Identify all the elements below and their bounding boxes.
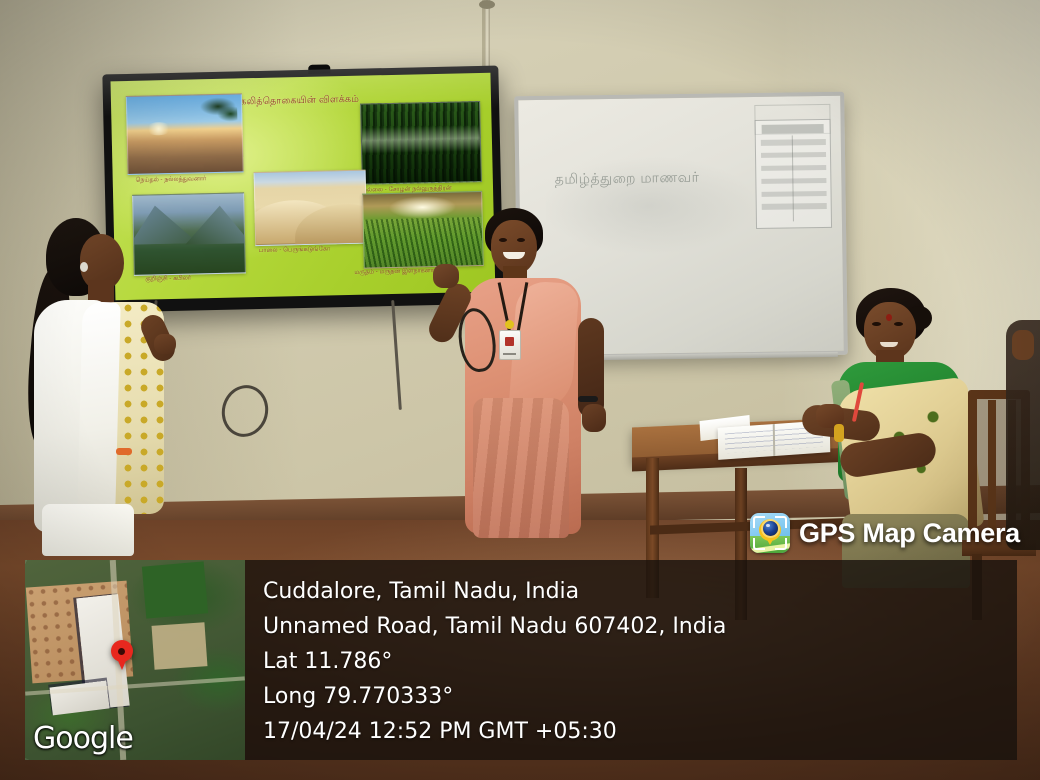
right-arm [578, 318, 604, 418]
lower-garment [42, 504, 134, 556]
chart-row [761, 165, 826, 171]
wrist-watch [578, 396, 598, 402]
chart-row [761, 152, 826, 158]
partial-hand-right-edge [1012, 330, 1034, 360]
slide-image-seashore [126, 94, 244, 175]
focus-bracket-bottom-left [753, 538, 765, 550]
chart-row [761, 139, 826, 145]
focus-bracket-top-right [775, 516, 787, 528]
chart-row [761, 203, 826, 209]
gps-longitude: Long 79.770333° [263, 679, 1017, 714]
chart-title-line [762, 124, 824, 133]
gps-place: Cuddalore, Tamil Nadu, India [263, 574, 1017, 609]
slide-image-desert [253, 170, 367, 247]
eye-left [872, 322, 881, 326]
gps-map-camera-label: GPS Map Camera [799, 518, 1020, 549]
gps-map-camera-watermark: GPS Map Camera [750, 513, 1020, 553]
mouth [880, 342, 898, 347]
person-student-left [28, 218, 173, 538]
smile [503, 252, 525, 259]
field-sun-glare [389, 196, 455, 219]
google-logo: Google [33, 721, 133, 756]
eye-left [499, 238, 507, 242]
person-presenter-center [455, 208, 600, 538]
whiteboard-handwriting: தமிழ்த்துறை மாணவர் [555, 169, 700, 190]
map-field-green [142, 561, 208, 618]
id-badge [499, 330, 521, 360]
conduit-clip [479, 0, 495, 9]
whiteboard-chart [755, 119, 833, 229]
slide-caption-farmland: மருதம் - மருதன் இளநாகனார் [354, 267, 437, 277]
slide-caption-desert: பாலை - பெருங்கடுங்கோ [259, 245, 331, 255]
tv-camera-nub [308, 64, 330, 73]
map-thumbnail[interactable]: Google [25, 560, 245, 760]
gps-latitude: Lat 11.786° [263, 644, 1017, 679]
dupatta-front [77, 302, 120, 513]
forest-mist [362, 125, 480, 154]
location-pin-icon [111, 640, 133, 662]
map-field-bare [151, 622, 207, 670]
slide-image-forest [360, 101, 482, 185]
raised-hand [433, 264, 459, 288]
eye-right [894, 322, 903, 326]
earring [80, 262, 88, 272]
sun-glow [146, 122, 171, 135]
notebook-spine [773, 424, 776, 456]
saree-drape [473, 398, 569, 538]
gps-map-camera-icon [750, 513, 790, 553]
gps-timestamp: 17/04/24 12:52 PM GMT +05:30 [263, 714, 1017, 749]
palm-canopy [189, 95, 238, 144]
focus-bracket-top-left [753, 516, 765, 528]
lanyard-clip [505, 320, 514, 329]
gold-bangle [834, 424, 844, 442]
mountain-peak-right [184, 204, 246, 245]
chart-row [761, 191, 826, 197]
eye-right [517, 238, 525, 242]
gps-map-camera-photo: கலித்தொகையின் விளக்கம் நெய்தல் - நல்லந்த… [0, 0, 1040, 780]
focus-bracket-bottom-right [775, 538, 787, 550]
wrist-band [116, 448, 132, 455]
hand-holding-remote [154, 334, 176, 354]
gps-info-bar: Google Cuddalore, Tamil Nadu, India Unna… [25, 560, 1017, 760]
chart-row [761, 178, 826, 184]
slide-caption-seashore: நெய்தல் - நல்லந்துவனார் [135, 176, 206, 186]
bindi [886, 314, 892, 321]
gps-info-panel: Cuddalore, Tamil Nadu, India Unnamed Roa… [245, 560, 1017, 760]
right-hand [582, 404, 606, 432]
gps-address: Unnamed Road, Tamil Nadu 607402, India [263, 609, 1017, 644]
